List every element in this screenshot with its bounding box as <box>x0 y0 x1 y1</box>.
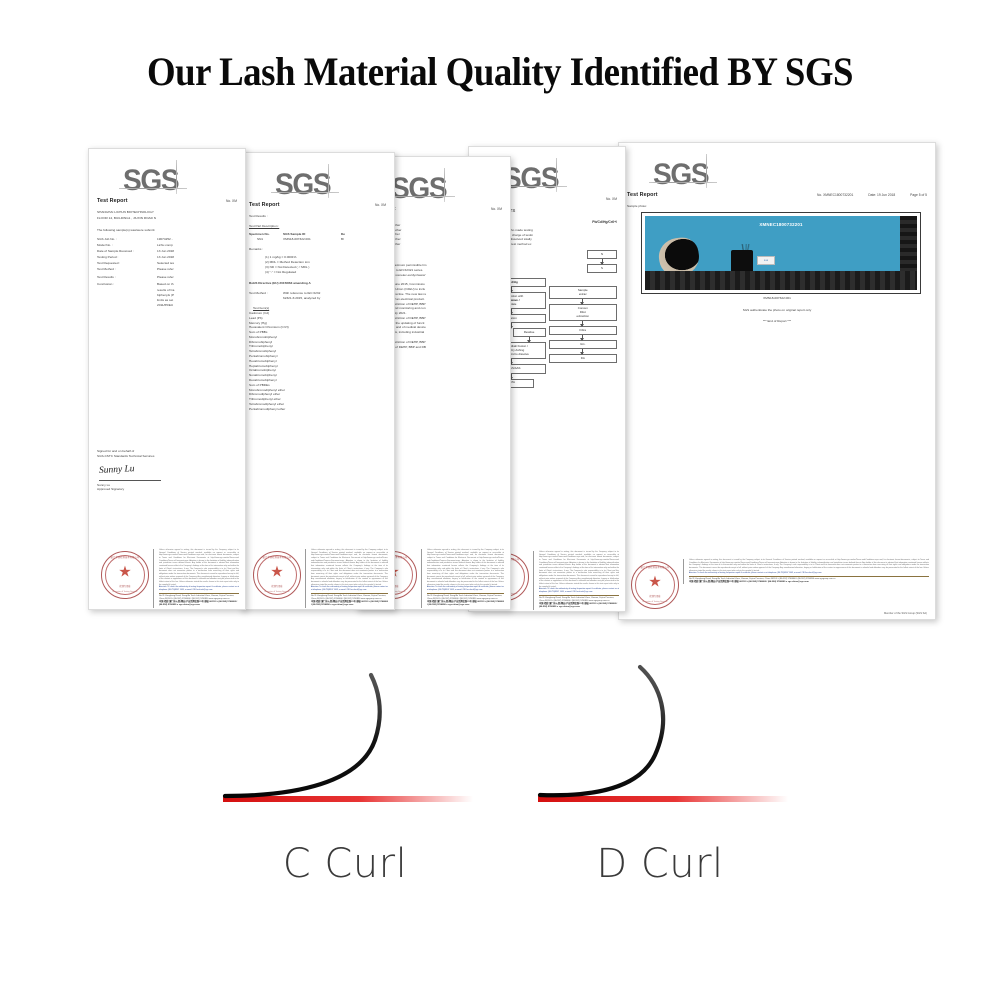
sgs-group-member-line: Member of the SGS Group (SGS SA) <box>884 612 927 616</box>
field-row: Test Method :Please refer <box>97 267 237 272</box>
test-method-row: Test Method : With reference to IEC 6232… <box>249 291 386 300</box>
authentication-note: SGS authenticate the photo on original r… <box>627 308 927 313</box>
ruler-horizontal <box>645 271 917 290</box>
flow-box-data-right: DA <box>549 354 618 363</box>
fine-print: Unless otherwise agreed in writing, this… <box>427 549 504 586</box>
address-chinese: 中国·福建·厦门市火炬(翔安)产业区翔虹路31号 邮编:361101 t (86… <box>539 603 619 610</box>
field-value: Please refer <box>157 267 237 272</box>
flow-arrow <box>602 259 603 264</box>
seal-star-icon: ★ <box>648 575 661 590</box>
d-curl-baseline <box>538 796 788 802</box>
seal-sub-text: Inspection & Testing Services <box>632 601 678 604</box>
seal-sub-text: Inspection & Testing Services <box>102 591 148 594</box>
attention-note: Attention: To check the authenticity of … <box>159 586 239 591</box>
curl-d: D Curl <box>500 655 820 887</box>
c-curl-label: C Curl <box>185 841 505 887</box>
cell-description: Bl <box>341 237 344 242</box>
field-label: Test Method : <box>97 267 157 272</box>
company-block: SHANGHAI LICHUN BIOTECHNOLOGY FLOOR 14, … <box>97 210 237 220</box>
fine-print: Unless otherwise agreed in writing, this… <box>311 549 388 586</box>
d-curl-diagram <box>500 655 820 835</box>
certificate-page-1[interactable]: SGS Test Report No. XM SHANGHAI LICHUN B… <box>88 148 246 610</box>
field-value: Lichu comp <box>157 243 237 248</box>
photo-code-overlay: XMNEC1800732201 <box>645 222 917 229</box>
certificate-stack: SGS Test Report No. XM SHANGHAI LICHUN B… <box>0 130 1000 640</box>
sgs-rule-vertical <box>444 168 445 202</box>
rohs-directive: RoHS Directive (EU) 2015/863 amending A <box>249 281 386 286</box>
field-row: Model No. :Lichu comp <box>97 243 237 248</box>
field-label: Testing Period : <box>97 255 157 260</box>
field-row: Test Requested :Selected tes <box>97 261 237 266</box>
report-number: No. XM <box>606 197 617 202</box>
conclusion-extra: results of Ca biphenyls (P limits as set… <box>97 288 237 307</box>
photo-caption: XMN18-007322.001 <box>627 296 927 301</box>
footer-text-block: Unless otherwise agreed in writing, this… <box>305 549 388 608</box>
test-part-description-label: Test Part Description : <box>249 224 386 229</box>
c-curl-diagram <box>185 655 505 835</box>
report-number: No. XM <box>375 203 386 208</box>
attention-note: Attention: To check the authenticity of … <box>427 586 504 591</box>
field-row: Date of Sample Received :13 Jun 2018 <box>97 249 237 254</box>
seal-star-icon: ★ <box>118 565 131 580</box>
end-of-report-note: *** End of Report *** <box>627 319 927 324</box>
field-value: Please refer <box>157 275 237 280</box>
company-seal-icon: 厦门华测检测技术有限公司 ★ 检测专用章 Inspection & Testin… <box>101 551 149 599</box>
report-fields: SGS Job No. :19074252 - Model No. :Lichu… <box>97 237 237 308</box>
company-seal-icon: 厦门华测检测技术有限公司 ★ 检测专用章 Inspection & Testin… <box>253 551 301 599</box>
curl-comparison: C Curl <box>0 655 1000 955</box>
c-curl-baseline <box>223 796 473 802</box>
address-chinese: 中国·福建·厦门市火炬(翔安)产业区翔虹路31号 邮编:361101 t (86… <box>689 581 929 584</box>
test-method-line: 62321-6:2015, analyzed by <box>283 296 320 301</box>
report-number: No. XM <box>491 207 502 212</box>
field-row: Conclusion :Based on th <box>97 282 237 287</box>
certificate-footer-1: 厦门华测检测技术有限公司 ★ 检测专用章 Inspection & Testin… <box>89 547 245 609</box>
flow-box-residue: Residue <box>513 328 546 337</box>
footer-text-block: Unless otherwise agreed in writing, this… <box>421 549 504 608</box>
report-number: No. XM <box>226 199 237 204</box>
sgs-wordmark: SGS <box>391 166 446 211</box>
flow-arrow <box>582 335 583 340</box>
page-number: Page 5 of 5 <box>910 193 927 197</box>
cell-specimen-no: SN1 <box>249 237 283 242</box>
signer-role: Approved Signatory <box>97 487 237 492</box>
test-items-list: Cadmium (Cd)Lead (Pb)Mercury (Hg)Hexaval… <box>249 311 386 411</box>
remarks-label: Remarks : <box>249 247 386 252</box>
footer-text-block: Unless otherwise agreed in writing, this… <box>533 551 619 610</box>
address-chinese: 中国·福建·厦门市火炬(翔安)产业区翔虹路31号 邮编:361101 t (86… <box>311 601 388 608</box>
sgs-rule-vertical <box>706 154 707 188</box>
field-value: 13 Jun 2018 <box>157 249 237 254</box>
fine-print: Unless otherwise agreed in writing, this… <box>689 559 929 572</box>
report-meta: No. XMNEC1800732201 Date: 19 Jun 2018 Pa… <box>803 193 927 198</box>
certificate-page-5[interactable]: SGS Test Report No. XMNEC1800732201 Date… <box>618 142 936 620</box>
sample-photo-frame: XMNEC1800732201 SGS <box>641 212 921 294</box>
seal-star-icon: ★ <box>270 565 283 580</box>
field-row: Testing Period :13 Jun 2018 <box>97 255 237 260</box>
footer-divider <box>427 593 504 594</box>
note-line: restriction of DEHP, BBP and DB <box>381 345 502 350</box>
flow-arrow <box>529 337 530 342</box>
signature-rule <box>99 480 161 481</box>
field-value: 13 Jun 2018 <box>157 255 237 260</box>
seal-sub-text: Inspection & Testing Services <box>254 591 300 594</box>
remarks-list: (1) 1 mg/kg = 0.0001% (2) MDL = Method D… <box>249 255 386 274</box>
signature-mark: Sunny Lu <box>99 457 238 478</box>
flow-box-concentration: ConcenDilutextraction <box>549 304 618 321</box>
flow-arrow <box>582 349 583 354</box>
field-label: SGS Job No. : <box>97 237 157 242</box>
seal-bottom-text: 检测专用章 <box>254 586 300 589</box>
cell-sample-id: XMN18-007322.001 <box>283 237 341 242</box>
flow-branch-right: Sampleextrac ConcenDilutextraction Filtr… <box>549 278 618 387</box>
flow-box-top-2: S <box>587 264 617 273</box>
fine-print: Unless otherwise agreed in writing, this… <box>539 551 619 588</box>
sample-tag: SGS <box>757 256 775 265</box>
seal-top-text: 厦门华测检测技术有限公司 <box>632 567 678 570</box>
conclusion-line: 2011/65/EU <box>157 303 237 308</box>
footer-divider <box>539 595 619 596</box>
sgs-wordmark: SGS <box>275 162 330 207</box>
footer-text-block: Unless otherwise agreed in writing, this… <box>683 559 929 584</box>
test-results-label: Test Results : <box>249 214 386 219</box>
footer-text-block: Unless otherwise agreed in writing, this… <box>153 549 239 608</box>
address-chinese: 中国·福建·厦门市火炬(翔安)产业区翔虹路31号 邮编:361101 t (86… <box>427 601 504 608</box>
field-row: Test Results :Please refer <box>97 275 237 280</box>
flow-box-sample-extraction: Sampleextrac <box>549 286 618 299</box>
footer-divider <box>159 593 239 594</box>
footer-divider <box>311 593 388 594</box>
c-curl-lash-stroke <box>225 675 380 796</box>
company-line-1: SHANGHAI LICHUN BIOTECHNOLOGY <box>97 210 237 215</box>
field-value: Selected tes <box>157 261 237 266</box>
seal-bottom-text: 检测专用章 <box>632 596 678 599</box>
page-title: Our Lash Material Quality Identified BY … <box>40 48 960 95</box>
flow-box-top-1: N <box>587 250 617 259</box>
attention-note: Attention: To check the authenticity of … <box>689 572 929 575</box>
attention-note: Attention: To check the authenticity of … <box>539 588 619 593</box>
sgs-rule-vertical <box>176 160 177 194</box>
signature-block: Signed for and on behalf of SGS-CSTC Sta… <box>97 449 237 492</box>
flow-box-gcms: GC- <box>549 340 618 349</box>
flow-arrow <box>582 321 583 326</box>
remark-item: (4) "-" = Not Regulated <box>265 270 386 275</box>
test-item: Pentabromodiphenyl ether <box>249 407 386 412</box>
certificate-footer-2: 厦门华测检测技术有限公司 ★ 检测专用章 Inspection & Testin… <box>241 547 394 609</box>
specimen-table-row: SN1 XMN18-007322.001 Bl <box>249 237 386 242</box>
field-label: Test Results : <box>97 275 157 280</box>
company-line-2: FLOOR 14, BUILDING1 , JIUXIN ROAD N <box>97 216 237 221</box>
sgs-wordmark: SGS <box>653 152 708 197</box>
sgs-rule-vertical <box>328 164 329 198</box>
field-label: Conclusion : <box>97 282 157 287</box>
field-value: 19074252 - <box>157 237 237 242</box>
sgs-wordmark: SGS <box>503 156 558 201</box>
field-row: SGS Job No. :19074252 - <box>97 237 237 242</box>
sgs-wordmark: SGS <box>123 158 178 203</box>
field-label: Test Requested : <box>97 261 157 266</box>
report-number: No. XMNEC1800732201 <box>817 193 853 197</box>
intro-text: The following sample(s) was/were submitt <box>97 228 237 233</box>
attention-note: Attention: To check the authenticity of … <box>311 586 388 591</box>
sgs-logo-1: SGS <box>97 158 237 192</box>
report-date: Date: 19 Jun 2018 <box>868 193 895 197</box>
field-label: Date of Sample Received : <box>97 249 157 254</box>
fine-print: Unless otherwise agreed in writing, this… <box>159 549 239 586</box>
certificate-footer-5: 厦门华测检测技术有限公司 ★ 检测专用章 Inspection & Testin… <box>619 557 935 619</box>
sgs-rule-vertical <box>556 158 557 192</box>
seal-bottom-text: 检测专用章 <box>102 586 148 589</box>
sample-photo: XMNEC1800732201 SGS <box>645 216 917 290</box>
curl-c: C Curl <box>185 655 505 887</box>
d-curl-lash-stroke <box>540 667 663 795</box>
flow-arrow <box>582 299 583 304</box>
seal-top-text: 厦门华测检测技术有限公司 <box>254 557 300 560</box>
sgs-logo-2: SGS <box>249 162 386 196</box>
certificate-page-2[interactable]: SGS Test Report No. XM Test Results : Te… <box>240 152 395 610</box>
company-seal-icon: 厦门华测检测技术有限公司 ★ 检测专用章 Inspection & Testin… <box>631 561 679 609</box>
field-label: Model No. : <box>97 243 157 248</box>
poster-root: Our Lash Material Quality Identified BY … <box>0 0 1000 1000</box>
footer-divider <box>689 576 929 577</box>
field-value: Based on th <box>157 282 237 287</box>
sgs-logo-5: SGS <box>627 152 927 186</box>
d-curl-label: D Curl <box>500 841 820 887</box>
address-chinese: 中国·福建·厦门市火炬(翔安)产业区翔虹路31号 邮编:361101 t (86… <box>159 601 239 608</box>
seal-top-text: 厦门华测检测技术有限公司 <box>102 557 148 560</box>
test-method-label: Test Method : <box>249 291 283 296</box>
flow-box-filtration-right: Filtra <box>549 326 618 335</box>
sample-photo-label: Sample photo: <box>627 204 927 209</box>
